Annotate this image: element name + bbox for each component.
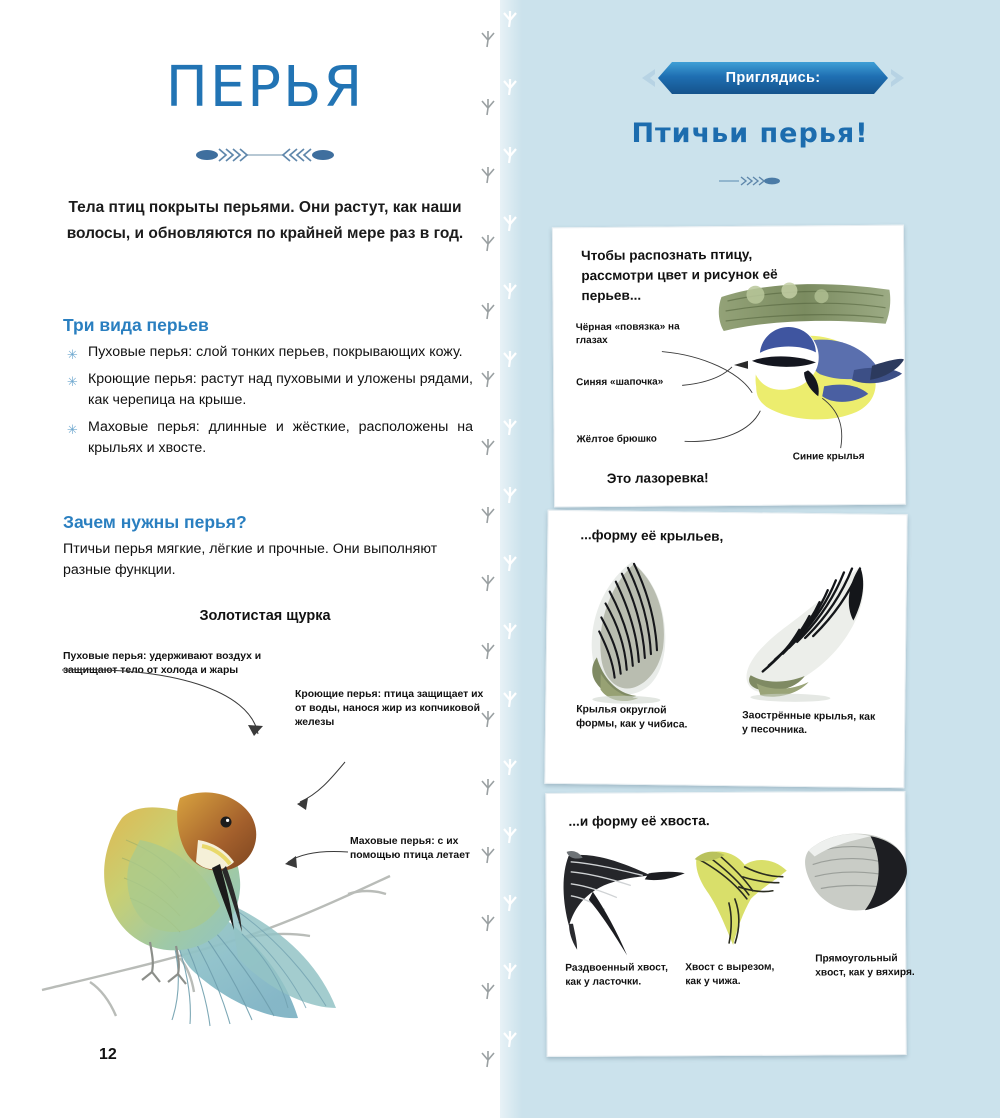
- intro-paragraph: Тела птиц покрыты перьями. Они растут, к…: [63, 195, 467, 247]
- notched-tail-illustration: [679, 837, 800, 958]
- card-bird-colour: Чтобы распознать птицу, рассмотри цвет и…: [552, 225, 906, 508]
- banner-label: Приглядись:: [658, 62, 888, 94]
- section-heading-types: Три вида перьев: [63, 315, 473, 336]
- arrow-ornament-icon: [185, 144, 345, 166]
- card3-lead-text: ...и форму её хвоста.: [568, 813, 709, 829]
- square-tail-illustration: [798, 826, 919, 947]
- caption-square-tail: Прямоугольный хвост, как у вяхиря.: [815, 952, 925, 980]
- caption-notched-tail: Хвост с вырезом, как у чижа.: [685, 961, 785, 989]
- small-arrow-ornament-icon: [715, 174, 785, 188]
- list-item: ✳ Кроющие перья: растут над пуховыми и у…: [63, 369, 473, 411]
- bullet-star-icon: ✳: [67, 419, 78, 440]
- list-item-text: Маховые перья: длинные и жёсткие, распол…: [88, 419, 473, 456]
- pointed-wing-illustration: [732, 557, 884, 709]
- section-why-body: Птичьи перья мягкие, лёгкие и прочные. О…: [63, 539, 473, 581]
- banner-right-arrow-icon: [890, 68, 912, 88]
- list-item: ✳ Маховые перья: длинные и жёсткие, расп…: [63, 417, 473, 459]
- book-spread: ПЕРЬЯ Тела птиц покрыты перьями: [0, 0, 1000, 1118]
- figure-caption-bee-eater: Золотистая щурка: [55, 608, 475, 624]
- annotation-leader-lines: [0, 640, 500, 940]
- right-ornament-divider: [500, 170, 1000, 192]
- caption-pointed-wing: Заострённые крылья, как у песочника.: [742, 709, 882, 739]
- feather-types-list: ✳ Пуховые перья: слой тонких перьев, пок…: [63, 342, 473, 459]
- page-title: ПЕРЬЯ: [55, 55, 475, 120]
- list-item: ✳ Пуховые перья: слой тонких перьев, пок…: [63, 342, 473, 363]
- bullet-star-icon: ✳: [67, 371, 78, 392]
- caption-forked-tail: Раздвоенный хвост, как у ласточки.: [565, 961, 670, 989]
- ornament-divider: [55, 140, 475, 170]
- caption-rounded-wing: Крылья округлой формы, как у чибиса.: [576, 703, 706, 733]
- card-tail-shapes: ...и форму её хвоста.: [545, 791, 906, 1057]
- right-page-title: Птичьи перья!: [500, 118, 1000, 149]
- rounded-wing-illustration: [574, 553, 716, 705]
- forked-tail-illustration: [559, 841, 690, 962]
- bullet-star-icon: ✳: [67, 344, 78, 365]
- section-heading-why: Зачем нужны перья?: [63, 512, 473, 533]
- spine-gutter-shadow: [500, 0, 522, 1118]
- card1-leader-lines: [553, 226, 905, 507]
- list-item-text: Пуховые перья: слой тонких перьев, покры…: [88, 344, 463, 360]
- section-why-feathers: Зачем нужны перья? Птичьи перья мягкие, …: [63, 512, 473, 581]
- card2-lead-text: ...форму её крыльев,: [580, 527, 723, 544]
- list-item-text: Кроющие перья: растут над пуховыми и уло…: [88, 371, 473, 408]
- card-wing-shapes: ...форму её крыльев,: [544, 510, 907, 788]
- section-feather-types: Три вида перьев ✳ Пуховые перья: слой то…: [63, 315, 473, 465]
- banner-left-arrow-icon: [634, 68, 656, 88]
- banner-priglyadis: Приглядись:: [628, 62, 918, 96]
- left-page: ПЕРЬЯ Тела птиц покрыты перьями: [0, 0, 500, 1118]
